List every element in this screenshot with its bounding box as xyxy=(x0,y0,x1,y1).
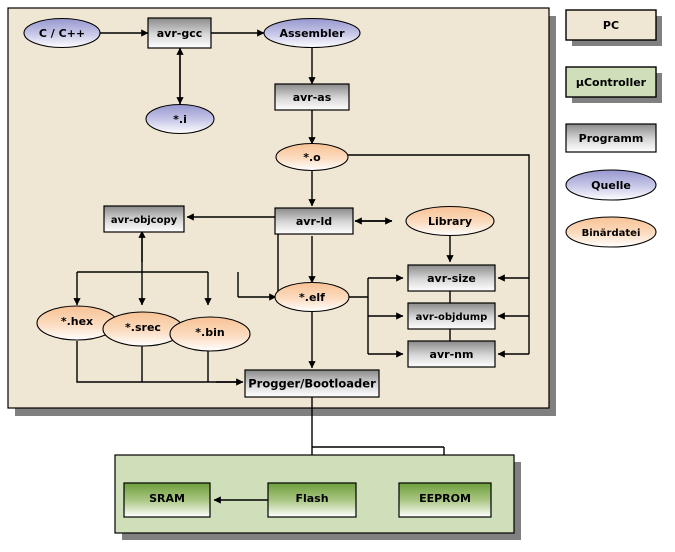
node-eeprom-label: EEPROM xyxy=(419,492,471,505)
node-flash-label: Flash xyxy=(295,492,328,505)
legend-programm-label: Programm xyxy=(579,132,644,145)
node-avr-as[interactable]: avr-as xyxy=(275,84,349,110)
node-avr-nm[interactable]: avr-nm xyxy=(408,341,495,367)
node-o-file[interactable]: *.o xyxy=(276,144,348,171)
legend: PC µController Programm Quelle Binärdate… xyxy=(566,10,662,247)
legend-uc-label: µController xyxy=(576,76,647,89)
node-avr-gcc-label: avr-gcc xyxy=(157,27,203,40)
node-assembler-label: Assembler xyxy=(279,27,345,40)
node-bin-file-label: *.bin xyxy=(195,326,224,339)
node-elf-file[interactable]: *.elf xyxy=(275,283,349,312)
node-library[interactable]: Library xyxy=(406,207,494,236)
node-progger-label: Progger/Bootloader xyxy=(248,377,376,391)
legend-binaerdatei-label: Binärdatei xyxy=(582,228,641,239)
legend-item-ucontroller: µController xyxy=(566,67,662,103)
node-sram-label: SRAM xyxy=(149,492,185,505)
node-srec-file-label: *.srec xyxy=(125,321,161,334)
toolchain-diagram: C / C++ avr-gcc Assembler *.i avr-as *.o… xyxy=(0,0,675,552)
legend-item-pc: PC xyxy=(566,10,662,46)
node-library-label: Library xyxy=(428,215,472,228)
node-sram[interactable]: SRAM xyxy=(124,483,210,517)
node-avr-gcc[interactable]: avr-gcc xyxy=(148,18,211,48)
node-avr-objdump[interactable]: avr-objdump xyxy=(408,303,495,329)
node-avr-ld[interactable]: avr-ld xyxy=(275,208,353,234)
node-assembler[interactable]: Assembler xyxy=(264,19,360,48)
node-avr-nm-label: avr-nm xyxy=(430,348,474,361)
node-avr-objdump-label: avr-objdump xyxy=(416,312,488,323)
node-avr-objcopy-label: avr-objcopy xyxy=(111,215,178,226)
node-c-cpp[interactable]: C / C++ xyxy=(24,19,100,48)
node-i-file[interactable]: *.i xyxy=(146,105,214,134)
node-eeprom[interactable]: EEPROM xyxy=(399,483,491,517)
node-avr-objcopy[interactable]: avr-objcopy xyxy=(104,206,184,232)
node-c-cpp-label: C / C++ xyxy=(39,27,85,40)
node-elf-file-label: *.elf xyxy=(299,291,325,304)
diagram-canvas: C / C++ avr-gcc Assembler *.i avr-as *.o… xyxy=(0,0,675,552)
legend-quelle-label: Quelle xyxy=(591,179,631,192)
node-o-file-label: *.o xyxy=(303,151,321,164)
node-flash[interactable]: Flash xyxy=(268,483,356,517)
legend-item-binaerdatei: Binärdatei xyxy=(566,217,656,247)
legend-item-programm: Programm xyxy=(566,124,656,152)
node-avr-ld-label: avr-ld xyxy=(296,215,332,228)
node-progger[interactable]: Progger/Bootloader xyxy=(245,370,379,397)
node-bin-file[interactable]: *.bin xyxy=(170,317,250,351)
legend-item-quelle: Quelle xyxy=(566,170,656,200)
node-avr-size-label: avr-size xyxy=(427,272,476,285)
node-avr-as-label: avr-as xyxy=(293,91,332,104)
node-i-file-label: *.i xyxy=(173,113,187,126)
node-avr-size[interactable]: avr-size xyxy=(408,265,495,291)
legend-pc-label: PC xyxy=(603,19,619,32)
node-hex-file-label: *.hex xyxy=(61,315,93,328)
